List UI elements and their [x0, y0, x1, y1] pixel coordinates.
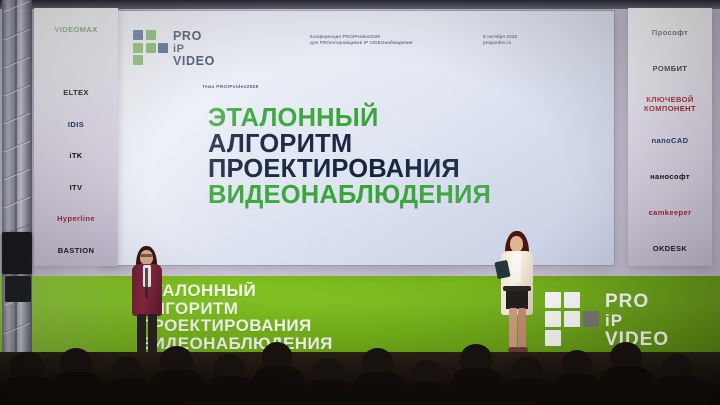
stage-speaker-box — [2, 232, 32, 274]
sponsor-banner-right: Прософт РОМБИТ КЛЮЧЕВОЙ КОМПОНЕНТ nanoCA… — [628, 8, 712, 266]
backdrop-title-line-2: АЛГОРИТМ — [140, 300, 470, 318]
stage-speaker-box-lower — [5, 276, 31, 302]
screen-glare — [103, 11, 614, 265]
sponsor-banner-left: VIDEOMAX ELTEX IDIS iTK ITV Hyperline BA… — [34, 8, 118, 266]
truss-tower-left — [2, 0, 32, 372]
presenter-right-top — [512, 252, 521, 282]
backdrop-logo-line-1: PRO — [605, 292, 669, 311]
presenter-right-skirt — [506, 291, 528, 309]
conference-photo: ЭТАЛОННЫЙ АЛГОРИТМ ПРОЕКТИРОВАНИЯ ВИДЕОН… — [0, 0, 720, 405]
audience-silhouette — [0, 330, 720, 405]
projection-screen: PRO iP VIDEO Конференция PROIPvideo2025 … — [103, 11, 614, 265]
sponsor-banner-right-glare — [628, 8, 712, 266]
backdrop-title-line-1: ЭТАЛОННЫЙ — [140, 282, 470, 300]
presenter-left-glasses — [140, 254, 153, 257]
backdrop-logo-line-2: iP — [605, 311, 669, 330]
sponsor-banner-left-glare — [34, 8, 118, 266]
presenter-left-lanyard — [145, 268, 148, 298]
